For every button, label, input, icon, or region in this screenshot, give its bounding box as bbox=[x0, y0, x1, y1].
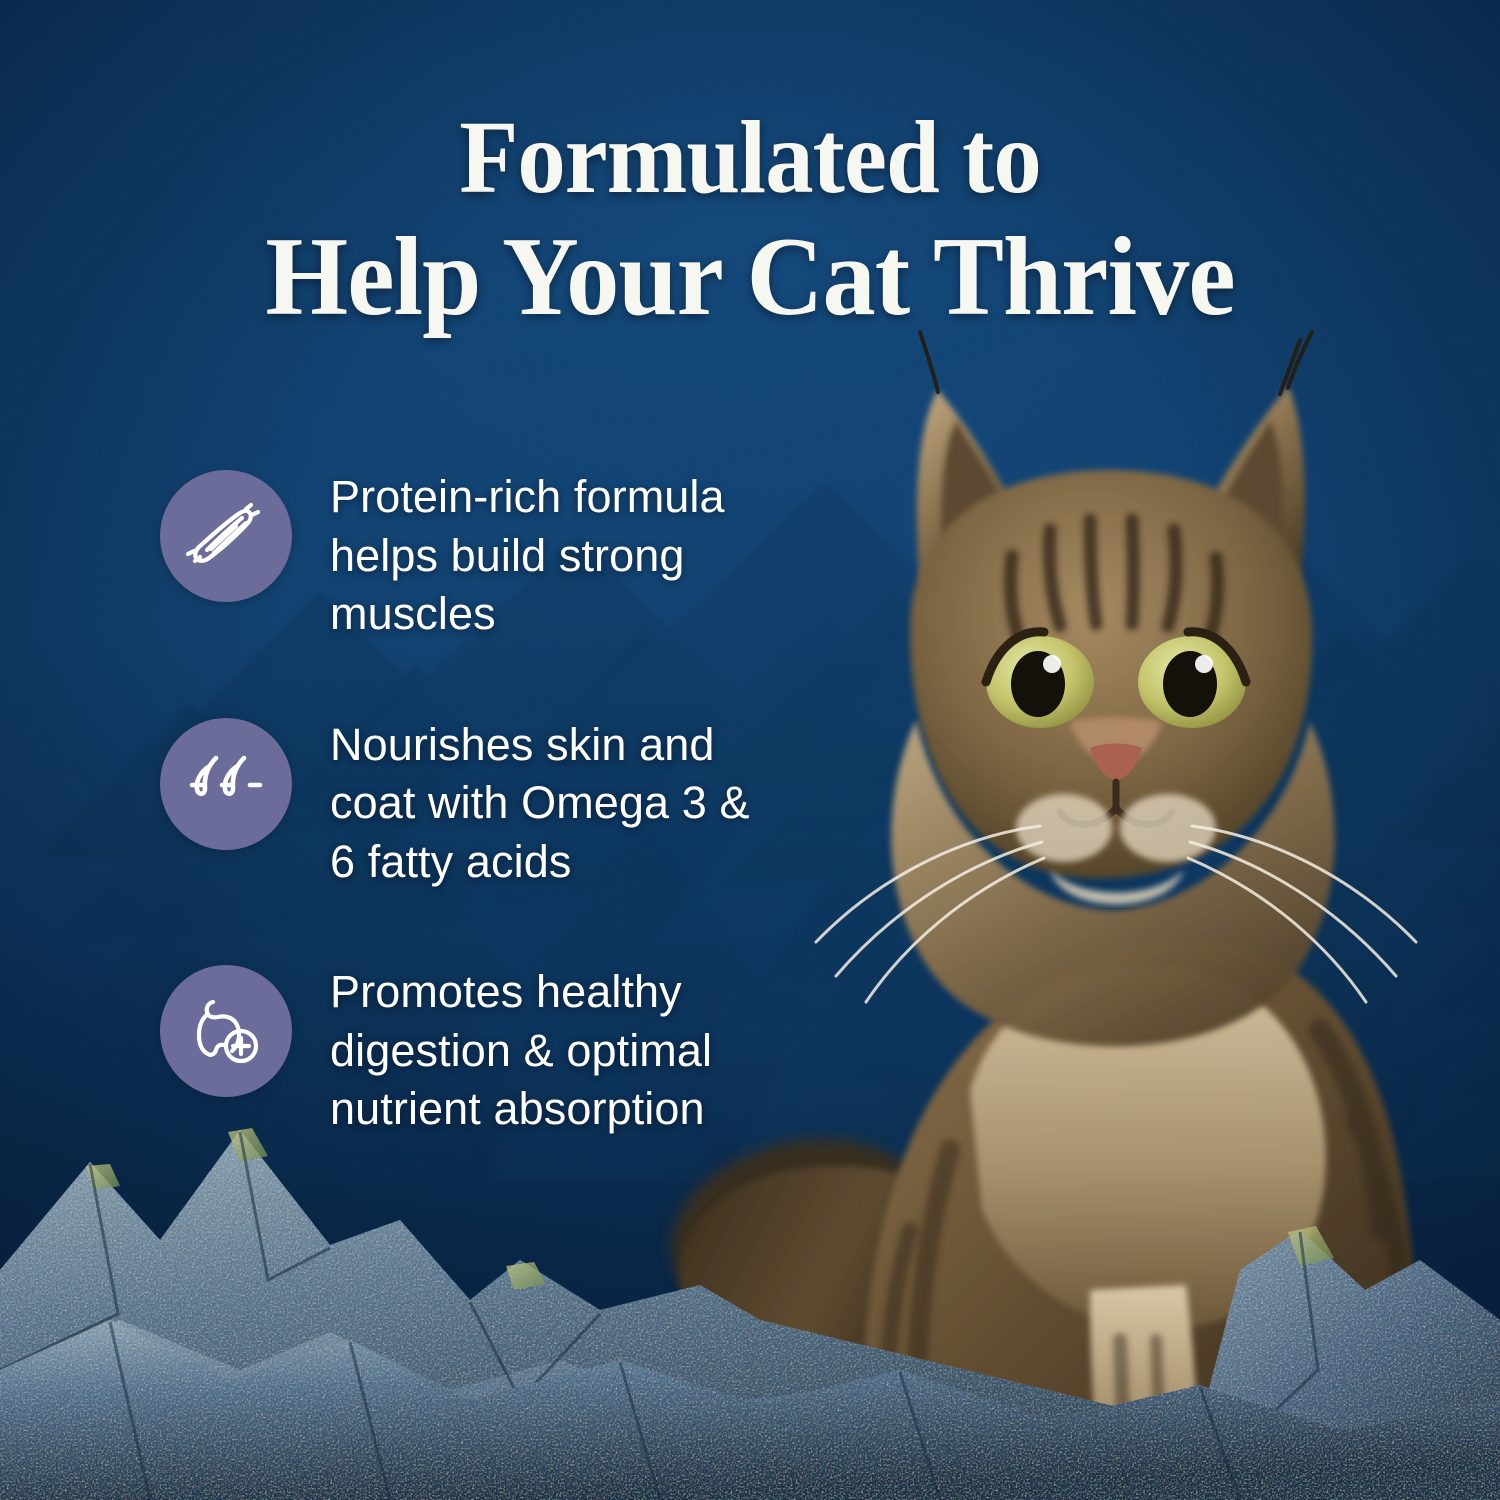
benefit-text: Protein-rich formula helps build strong … bbox=[330, 462, 750, 644]
benefit-list: Protein-rich formula helps build strong … bbox=[160, 462, 760, 1139]
skin-hair-follicle-icon bbox=[160, 718, 292, 850]
list-item: Nourishes skin and coat with Omega 3 & 6… bbox=[160, 710, 760, 892]
list-item: Protein-rich formula helps build strong … bbox=[160, 462, 760, 644]
benefit-text: Nourishes skin and coat with Omega 3 & 6… bbox=[330, 710, 750, 892]
promo-panel: Formulated to Help Your Cat Thrive Prote… bbox=[0, 0, 1500, 1500]
rock-layer-front bbox=[0, 1250, 1500, 1500]
muscle-fiber-icon bbox=[160, 470, 292, 602]
